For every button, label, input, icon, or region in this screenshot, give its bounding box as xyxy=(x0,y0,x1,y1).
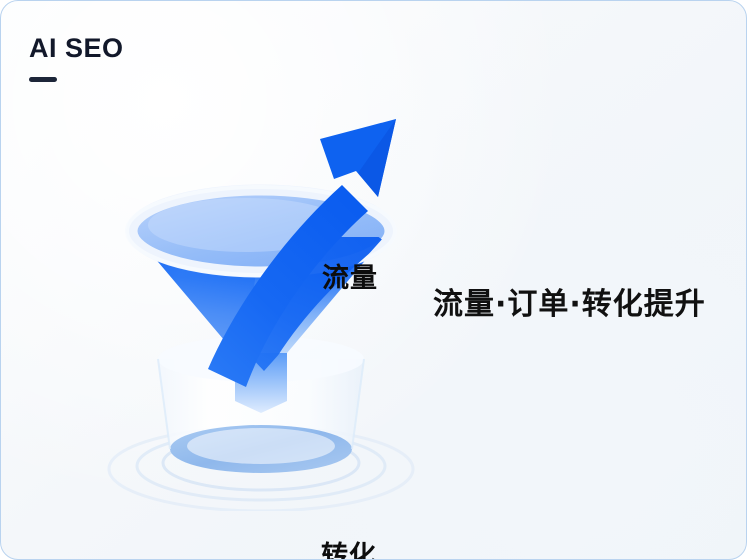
funnel-illustration: 流量 转化 xyxy=(96,101,426,511)
poster-canvas: AI SEO 流量·订单·转化提升 xyxy=(0,0,747,560)
funnel-label-conversion: 转化 xyxy=(321,534,377,560)
heading-block: AI SEO xyxy=(29,35,124,82)
tagline-text: 流量·订单·转化提升 xyxy=(433,279,706,323)
page-title: AI SEO xyxy=(29,35,124,62)
title-underline-rule xyxy=(29,77,57,82)
funnel-label-traffic: 流量 xyxy=(322,256,378,295)
